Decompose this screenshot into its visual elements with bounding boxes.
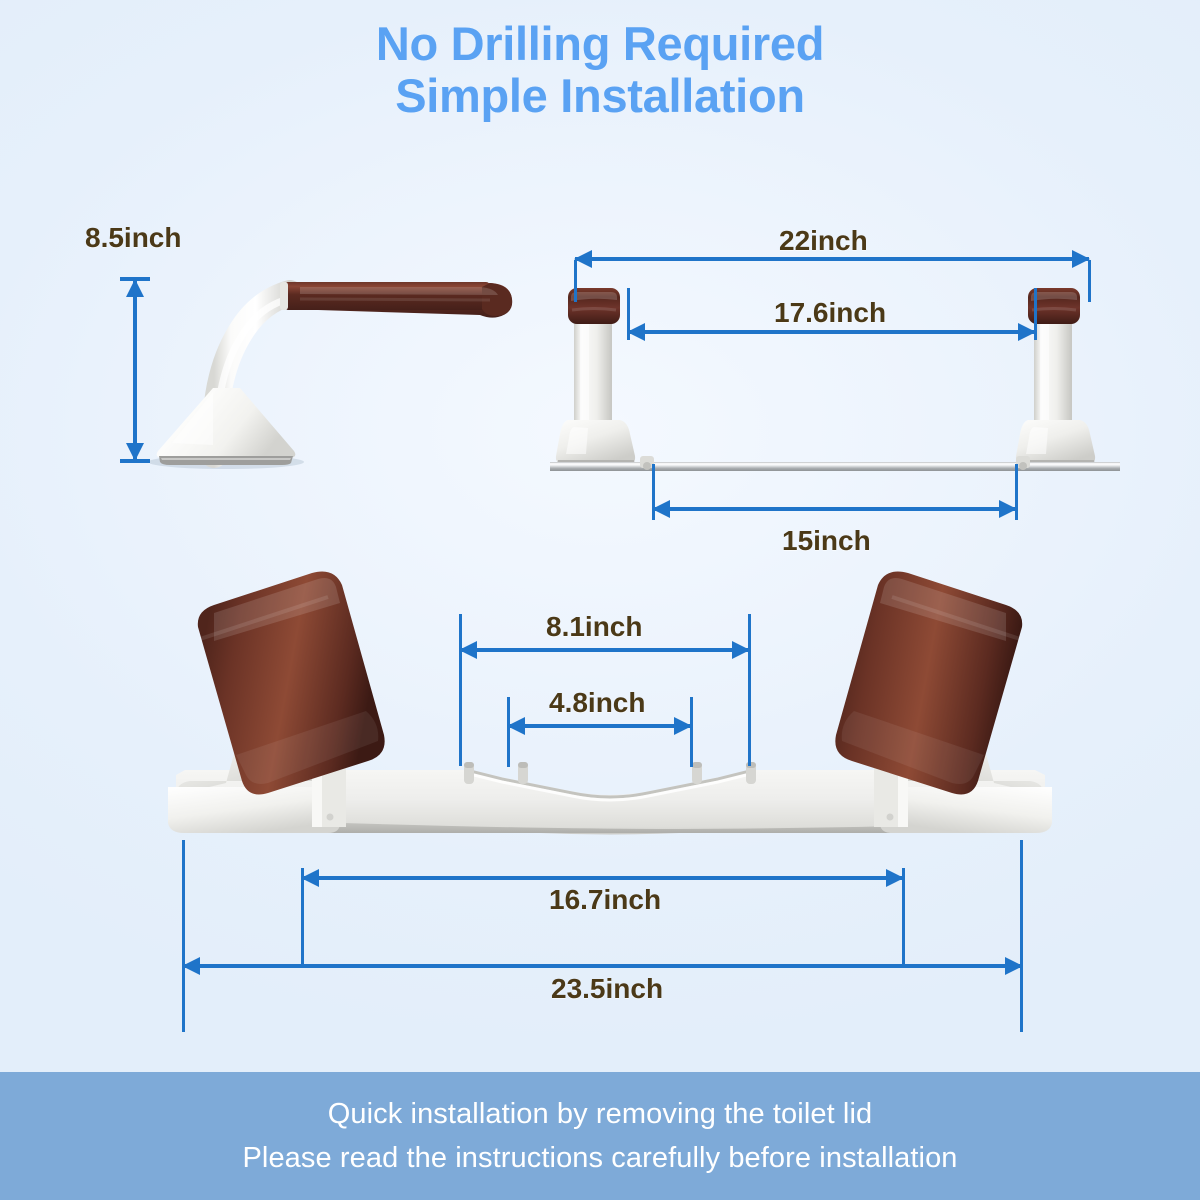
title-line-2: Simple Installation	[0, 70, 1200, 122]
banner-line-1: Quick installation by removing the toile…	[328, 1092, 872, 1136]
side-view-svg	[150, 255, 570, 480]
dimension-arrow-slot-outer	[460, 648, 749, 652]
infographic-canvas: No Drilling Required Simple Installation	[0, 0, 1200, 1200]
dimension-arrow-slot-inner	[508, 724, 691, 728]
dimension-arrow-front-outer	[575, 257, 1089, 261]
dimension-label-top-inner: 16.7inch	[549, 884, 661, 916]
ext-line-235-right	[1020, 840, 1023, 1032]
dimension-arrow-front-bar	[653, 507, 1016, 511]
dimension-label-top-overall: 23.5inch	[551, 973, 663, 1005]
side-view-grab-bar	[150, 255, 570, 480]
ext-line-81-left	[459, 614, 462, 766]
page-title: No Drilling Required Simple Installation	[0, 18, 1200, 122]
dimension-arrow-top-overall	[183, 964, 1022, 968]
dimension-arrow-top-inner	[302, 876, 903, 880]
bottom-instruction-banner: Quick installation by removing the toile…	[0, 1072, 1200, 1200]
title-line-1: No Drilling Required	[376, 17, 824, 70]
banner-line-2: Please read the instructions carefully b…	[242, 1136, 957, 1180]
dimension-label-slot-outer: 8.1inch	[546, 611, 642, 643]
dimension-cap-bottom	[120, 459, 150, 463]
dimension-label-front-inner: 17.6inch	[774, 297, 886, 329]
dimension-label-front-outer: 22inch	[779, 225, 868, 257]
ext-line-81-right	[748, 614, 751, 766]
dimension-arrow-side-height	[133, 280, 137, 460]
dimension-label-side-height: 8.5inch	[85, 222, 181, 254]
dimension-arrow-front-inner	[628, 330, 1035, 334]
ext-line-235-left	[182, 840, 185, 1032]
dimension-label-slot-inner: 4.8inch	[549, 687, 645, 719]
dimension-label-front-bar: 15inch	[782, 525, 871, 557]
